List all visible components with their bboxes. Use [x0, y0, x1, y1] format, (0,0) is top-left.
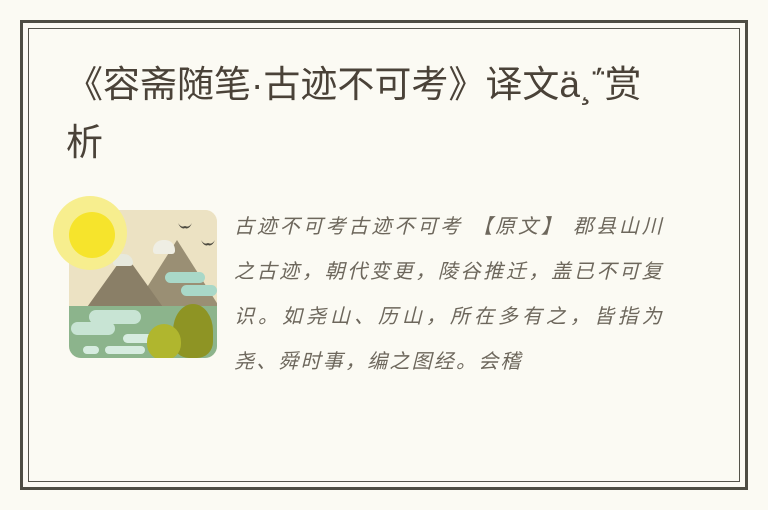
cloud-icon: [105, 346, 145, 354]
sun-icon: [69, 212, 115, 258]
cloud-icon: [83, 346, 99, 354]
snow-cap-icon: [153, 240, 175, 254]
bush-icon: [147, 324, 181, 358]
page-title: 《容斋随笔·古迹不可考》译文ä¸΅赏析: [66, 56, 676, 172]
bird-icon: [200, 239, 216, 247]
content-area: 古迹不可考古迹不可考 【原文】 郡县山川之古迹，朝代变更，陵谷推迁，盖已不可复识…: [50, 196, 710, 466]
cloud-icon: [165, 272, 205, 283]
article-thumbnail[interactable]: [55, 200, 217, 362]
page-root: 《容斋随笔·古迹不可考》译文ä¸΅赏析: [0, 0, 768, 510]
article-body-text: 古迹不可考古迹不可考 【原文】 郡县山川之古迹，朝代变更，陵谷推迁，盖已不可复识…: [234, 204, 664, 466]
cloud-icon: [71, 322, 115, 335]
bird-icon: [177, 222, 193, 230]
cloud-icon: [181, 285, 217, 296]
